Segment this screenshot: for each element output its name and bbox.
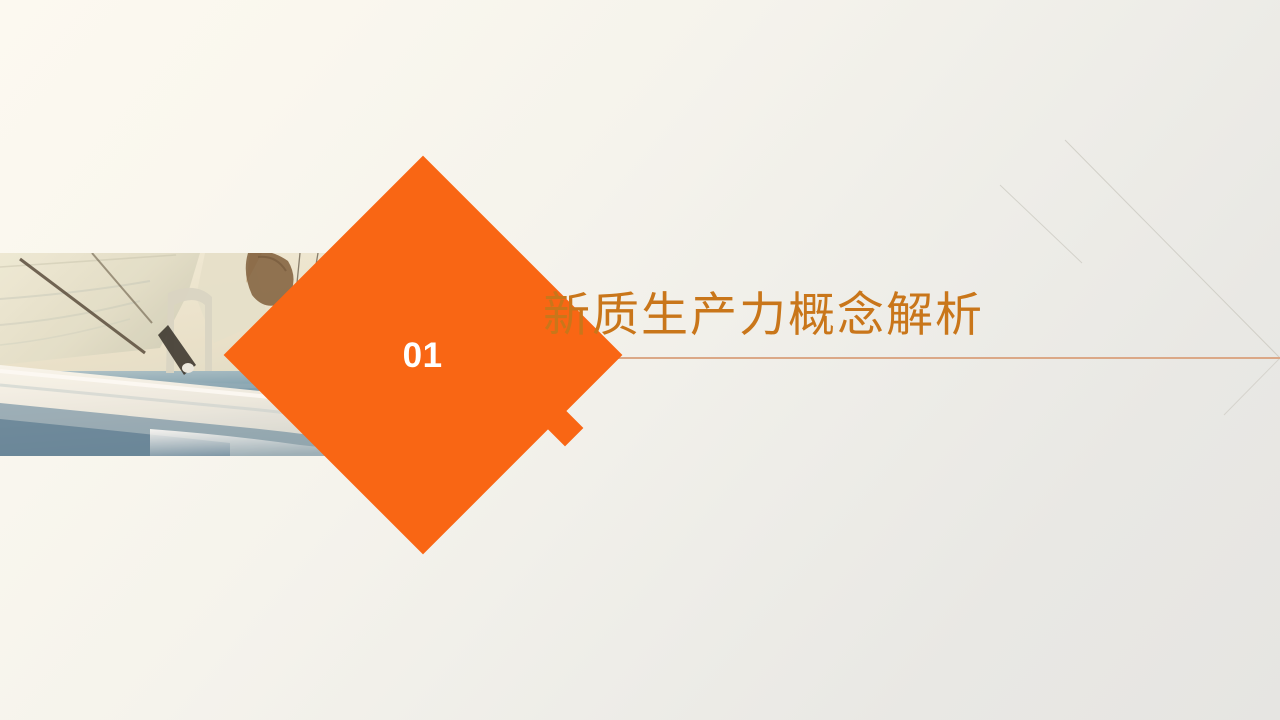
diagonal-hairline-short-icon	[1000, 185, 1082, 263]
section-number-diamond: 01	[224, 156, 623, 555]
section-number: 01	[403, 338, 443, 373]
title-underline-rule	[523, 357, 1280, 359]
slide-canvas: 01 新质生产力概念解析	[0, 0, 1280, 720]
diagonal-hairline-tail-icon	[1224, 358, 1280, 415]
section-title: 新质生产力概念解析	[543, 288, 984, 342]
diagonal-hairline-long-icon	[1065, 140, 1280, 358]
